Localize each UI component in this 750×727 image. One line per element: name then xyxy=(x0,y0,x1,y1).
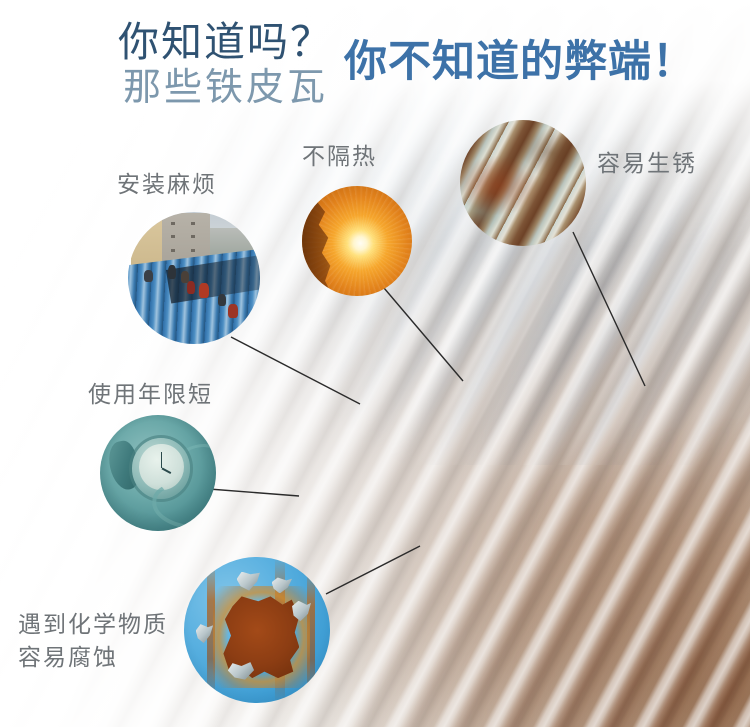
rust-patch-overlay xyxy=(460,120,586,246)
install-window xyxy=(191,222,195,225)
callout-photo-corrosion xyxy=(184,557,330,703)
install-worker xyxy=(187,281,195,294)
callout-label-lifespan: 使用年限短 xyxy=(88,378,213,411)
headline-right: 你不知道的弊端！ xyxy=(344,27,696,89)
install-window xyxy=(171,222,175,225)
install-worker xyxy=(144,270,153,282)
watch-vignette xyxy=(100,415,216,531)
callout-photo-install xyxy=(128,212,260,344)
callout-label-install: 安装麻烦 xyxy=(117,168,217,201)
install-window xyxy=(191,235,195,238)
install-photo-content xyxy=(128,212,260,344)
poster-root: 你知道吗？ 那些铁皮瓦 你不知道的弊端！ 安装麻烦 不隔热 容易生锈 使用年限短… xyxy=(0,0,750,727)
headline-left-line2: 那些铁皮瓦 xyxy=(118,69,333,107)
callout-photo-rust xyxy=(460,120,586,246)
install-worker xyxy=(218,294,226,306)
install-window xyxy=(171,249,175,252)
callout-label-corrosion-line2: 容易腐蚀 xyxy=(18,641,168,674)
headline-left: 你知道吗？ 那些铁皮瓦 xyxy=(118,22,333,107)
callout-label-insulation: 不隔热 xyxy=(302,140,377,173)
corrosion-vignette xyxy=(184,557,330,703)
callout-label-corrosion: 遇到化学物质 容易腐蚀 xyxy=(18,608,168,675)
install-worker xyxy=(228,304,237,317)
callout-label-rust: 容易生锈 xyxy=(597,147,697,180)
install-worker xyxy=(168,265,176,280)
callout-photo-watch xyxy=(100,415,216,531)
install-window xyxy=(171,235,175,238)
callout-photo-sun xyxy=(302,186,412,296)
headline-left-line1: 你知道吗？ xyxy=(118,22,333,63)
callout-label-corrosion-line1: 遇到化学物质 xyxy=(18,608,168,641)
install-worker xyxy=(199,283,208,298)
install-window xyxy=(191,249,195,252)
